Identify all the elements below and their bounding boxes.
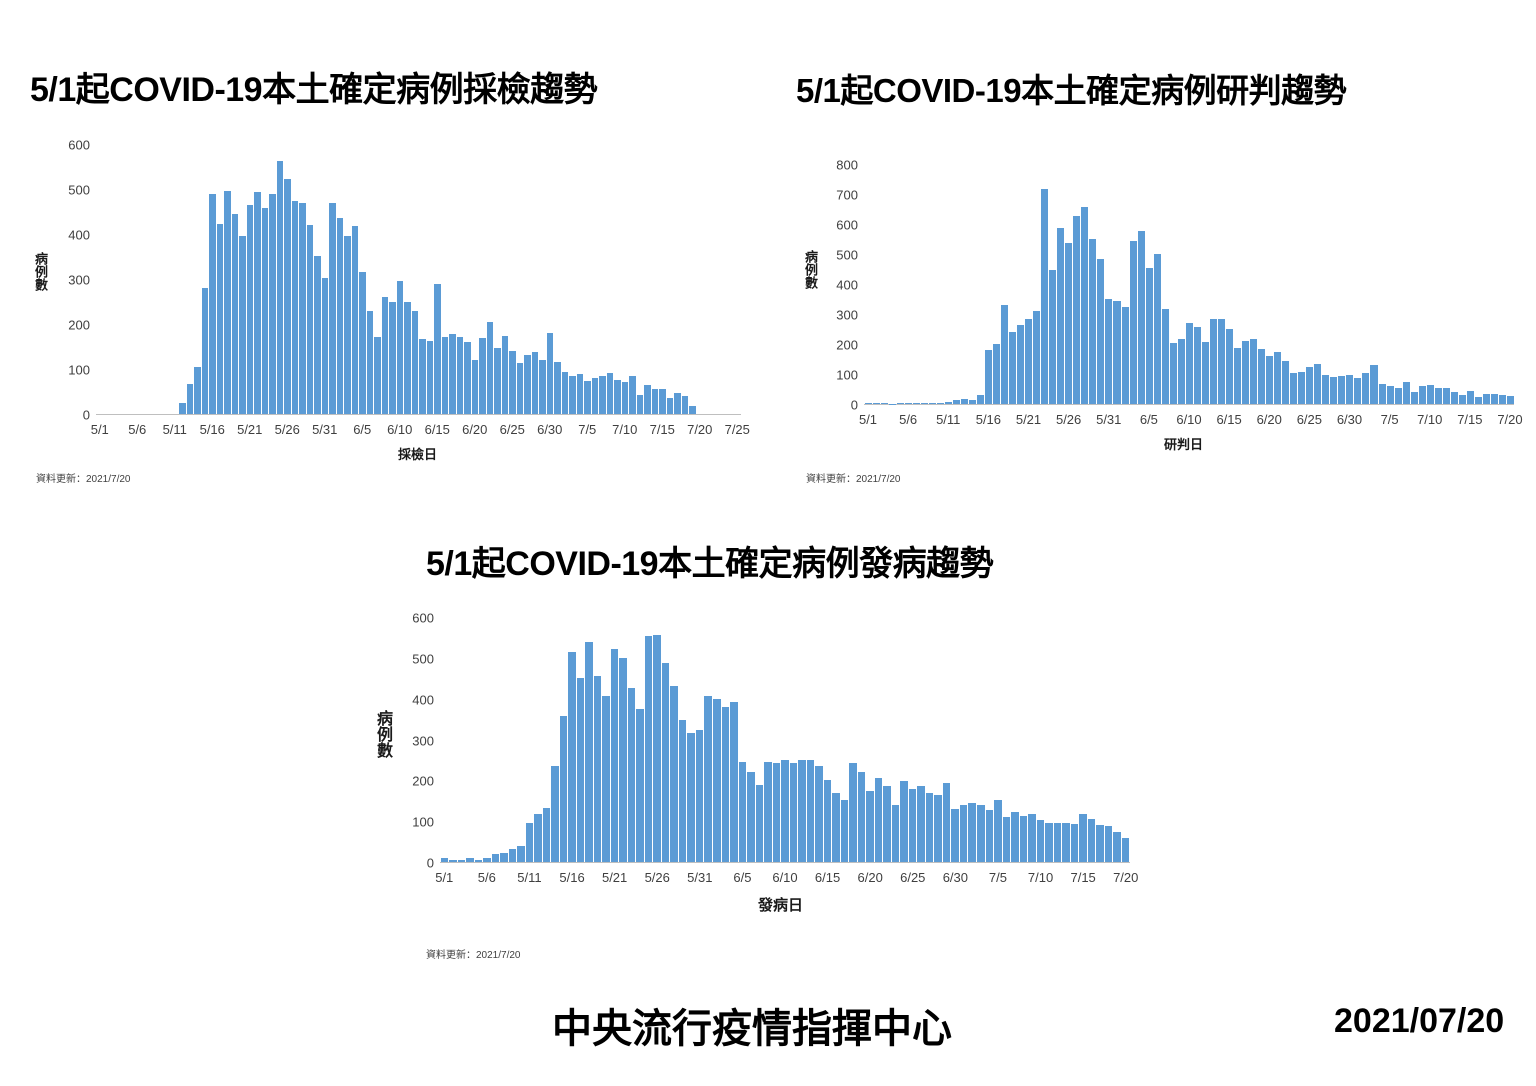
x-axis-tick: 5/1 [859,412,877,427]
x-axis-tick: 5/21 [602,870,627,885]
bar [1234,348,1241,404]
bar [1387,386,1394,404]
bar [458,860,466,862]
x-axis-tick: 5/16 [559,870,584,885]
bar [900,781,908,862]
bar [644,385,651,414]
x-axis-tick: 6/20 [462,422,487,437]
x-axis-tick: 5/31 [1096,412,1121,427]
x-axis-tick: 5/31 [687,870,712,885]
bar [1282,361,1289,404]
x-axis-tick: 5/6 [478,870,496,885]
x-axis-tick: 5/1 [91,422,109,437]
bar [926,793,934,862]
bar [1499,395,1506,404]
bar [1062,823,1070,862]
bar [492,854,500,862]
bar [1427,385,1434,404]
y-axis-tick: 300 [54,273,90,288]
bar [1081,207,1088,404]
bar [209,194,216,414]
bar [798,760,806,862]
bar [532,352,539,414]
bar [1049,270,1056,404]
bar [217,224,224,414]
bar [636,709,644,862]
y-axis-label-confirmation: 病例數 [804,250,817,289]
y-axis-tick: 300 [824,308,858,323]
bar [986,810,994,862]
bar [517,363,524,414]
bar [1298,372,1305,404]
x-axis-tick: 7/5 [578,422,596,437]
x-axis-tick: 6/5 [1140,412,1158,427]
bar [1218,319,1225,404]
bar [1113,301,1120,404]
bar [614,380,621,414]
x-axis-tick: 5/6 [128,422,146,437]
x-axis-tick: 6/30 [943,870,968,885]
bar [509,351,516,414]
bar [815,766,823,862]
bar [764,762,772,862]
y-axis-tick: 200 [54,318,90,333]
bar [865,403,872,404]
bar [179,403,186,414]
y-axis-tick: 100 [54,363,90,378]
y-axis-tick: 600 [394,611,434,626]
bar [739,762,747,862]
bar [307,225,314,414]
bar [269,194,276,414]
bar [629,376,636,414]
bar [1033,311,1040,404]
x-axis-tick: 5/1 [435,870,453,885]
x-axis-label-sampling: 採檢日 [398,444,437,463]
bar [412,311,419,414]
bar [352,226,359,414]
bar [1354,378,1361,404]
bar [849,763,857,862]
bar [1290,373,1297,404]
bar [449,334,456,414]
y-axis-tick: 800 [824,158,858,173]
bar [929,403,936,404]
bar [502,336,509,414]
x-axis-tick: 5/16 [976,412,1001,427]
bar [441,858,449,862]
bar [1379,384,1386,404]
bar [1370,365,1377,404]
bar [824,780,832,862]
bar [599,376,606,414]
bar [1346,375,1353,404]
bar [1443,388,1450,404]
bar [756,785,764,862]
footnote-confirmation: 資料更新：2021/7/20 [806,470,901,485]
x-axis-tick: 6/10 [772,870,797,885]
y-axis-tick: 600 [54,138,90,153]
bar [1146,268,1153,404]
bar [397,281,404,414]
bar [1011,812,1019,862]
bar [679,720,687,862]
bar [841,800,849,862]
x-axis-onset: 5/15/65/115/165/215/265/316/56/106/156/2… [440,868,1130,888]
bar [747,772,755,862]
bar [1322,375,1329,404]
bar [1483,394,1490,404]
bar [607,373,614,414]
bar-series-onset [440,618,1130,862]
footer-date: 2021/07/20 [1334,1002,1504,1041]
bar [1419,386,1426,404]
bar [1411,392,1418,404]
bar [427,341,434,414]
x-axis-tick: 5/21 [237,422,262,437]
x-axis-confirmation: 5/15/65/115/165/215/265/316/56/106/156/2… [864,410,1514,430]
bar [472,360,479,414]
bar [1065,243,1072,404]
bar [1089,239,1096,404]
bar [487,322,494,414]
bar [359,272,366,414]
y-axis-label-onset: 病例數 [374,710,390,758]
bar [653,635,661,862]
x-axis-tick: 6/5 [353,422,371,437]
bar [284,179,291,414]
bar [1266,356,1273,404]
bar [239,236,246,414]
x-axis-tick: 5/21 [1016,412,1041,427]
x-axis-tick: 6/15 [1216,412,1241,427]
x-axis-tick: 6/30 [537,422,562,437]
bar [1138,231,1145,404]
plot-wrap-confirmation: 病例數 0100200300400500600700800 5/15/65/11… [768,0,1536,470]
bar [569,376,576,414]
x-axis-tick: 7/15 [650,422,675,437]
bar [1491,394,1498,404]
bar [881,403,888,404]
bar [1045,823,1053,862]
bar [1258,349,1265,404]
bar [1105,299,1112,404]
bar [875,778,883,862]
bar [202,288,209,414]
bar [562,372,569,414]
bar [483,858,491,862]
bar [943,783,951,862]
y-axis-tick: 100 [394,815,434,830]
bar [187,384,194,414]
bar [659,389,666,414]
bar [873,403,880,404]
bar [1330,377,1337,404]
bar [224,191,231,414]
y-axis-tick: 500 [54,183,90,198]
footer-organization: 中央流行疫情指揮中心 [552,996,952,1054]
bar [611,649,619,862]
bar [951,809,959,862]
bar [594,676,602,862]
y-axis-tick: 600 [824,218,858,233]
bar [883,786,891,862]
bar-series-confirmation [864,165,1514,404]
x-axis-tick: 5/26 [1056,412,1081,427]
bar [909,789,917,862]
bar [934,795,942,862]
bar [299,203,306,414]
bar [329,203,336,414]
bar [247,205,254,414]
bar [1459,395,1466,404]
bar [960,805,968,862]
footnote-onset: 資料更新：2021/7/20 [426,946,521,961]
bar [254,192,261,414]
bar [509,849,517,862]
x-axis-tick: 7/15 [1457,412,1482,427]
bar [434,284,441,414]
bar [1003,817,1011,862]
bar [985,350,992,404]
footnote-sampling: 資料更新：2021/7/20 [36,470,131,485]
bar [1037,820,1045,862]
bar [917,786,925,862]
bar [389,302,396,414]
bar [1274,352,1281,404]
bar [722,707,730,862]
bar [968,803,976,862]
bar [619,658,627,862]
bar [314,256,321,414]
bar [1178,339,1185,404]
chart-panel-confirmation: 5/1起COVID-19本土確定病例研判趨勢 病例數 0100200300400… [768,0,1536,500]
plot-wrap-onset: 病例數 0100200300400500600 5/15/65/115/165/… [330,512,1210,942]
bar [1122,307,1129,404]
x-axis-tick: 6/10 [1176,412,1201,427]
bar [1435,388,1442,404]
bar [645,636,653,862]
bar [466,858,474,862]
bar [1009,332,1016,404]
bar [292,201,299,414]
bar [1001,305,1008,404]
chart-panel-onset: 5/1起COVID-19本土確定病例發病趨勢 病例數 0100200300400… [330,512,1210,982]
bar [1017,325,1024,404]
bar [1362,373,1369,404]
y-axis-tick: 400 [394,692,434,707]
x-axis-tick: 7/20 [1497,412,1522,427]
x-axis-tick: 7/5 [1381,412,1399,427]
bar [194,367,201,414]
y-axis-onset: 0100200300400500600 [394,618,434,863]
bar [687,733,695,862]
x-axis-tick: 7/10 [1028,870,1053,885]
bar [568,652,576,862]
bar [807,760,815,862]
x-axis-tick: 6/25 [500,422,525,437]
y-axis-tick: 500 [394,651,434,666]
y-axis-tick: 400 [824,278,858,293]
x-axis-tick: 5/6 [899,412,917,427]
bar [897,403,904,404]
bar [637,395,644,414]
bar [577,374,584,414]
bar [560,716,568,862]
x-axis-tick: 6/15 [815,870,840,885]
bar [337,218,344,414]
bar [1186,323,1193,404]
bar [479,338,486,414]
bar [628,688,636,862]
bar [781,760,789,862]
bar [696,730,704,862]
bar [1025,319,1032,404]
x-axis-tick: 7/10 [612,422,637,437]
x-axis-tick: 5/16 [200,422,225,437]
x-axis-tick: 6/25 [1297,412,1322,427]
x-axis-tick: 6/10 [387,422,412,437]
bar [442,337,449,414]
bar [1338,376,1345,404]
bar [1097,259,1104,404]
bar [1395,388,1402,404]
bar [1122,838,1130,862]
bar [1041,189,1048,404]
x-axis-label-onset: 發病日 [758,894,803,915]
bar [475,860,483,862]
y-axis-confirmation: 0100200300400500600700800 [824,165,858,405]
bar [689,406,696,414]
bar [464,342,471,414]
bar [543,808,551,862]
bar [584,381,591,414]
y-axis-tick: 200 [394,774,434,789]
x-axis-tick: 5/11 [517,870,541,885]
bar [1073,216,1080,404]
bar [913,403,920,404]
bar [585,642,593,862]
bar [682,396,689,414]
x-axis-tick: 6/20 [858,870,883,885]
x-axis-tick: 7/15 [1070,870,1095,885]
y-axis-sampling: 0100200300400500600 [54,145,90,415]
bar [554,362,561,414]
bar [1170,343,1177,404]
bar [419,339,426,414]
bar [704,696,712,862]
bar [526,823,534,862]
bar [1071,824,1079,862]
y-axis-tick: 100 [824,368,858,383]
bar [622,382,629,414]
plot-wrap-sampling: 病例數 0100200300400500600 5/15/65/115/165/… [0,0,770,470]
x-axis-sampling: 5/15/65/115/165/215/265/316/56/106/156/2… [96,420,741,440]
bar [517,846,525,862]
x-axis-tick: 7/20 [687,422,712,437]
bar [953,400,960,404]
bar [892,805,900,862]
bar [730,702,738,862]
x-axis-label-confirmation: 研判日 [1164,434,1203,453]
bar [977,395,984,404]
bar [670,686,678,862]
bar [551,766,559,862]
bar [374,337,381,414]
bar [1226,329,1233,404]
bar [1475,397,1482,404]
bar [993,344,1000,404]
x-axis-tick: 6/25 [900,870,925,885]
bar [1113,832,1121,863]
bar [961,399,968,404]
y-axis-tick: 700 [824,188,858,203]
bar [539,360,546,414]
y-axis-tick: 0 [824,398,858,413]
plot-area-onset [440,618,1130,863]
bar [1314,364,1321,404]
x-axis-tick: 5/26 [275,422,300,437]
bar [1202,342,1209,404]
bar [494,348,501,414]
y-axis-tick: 300 [394,733,434,748]
bar [457,337,464,414]
bar [1250,339,1257,404]
bar [322,278,329,414]
bar [790,763,798,862]
bar [662,663,670,862]
x-axis-tick: 6/30 [1337,412,1362,427]
x-axis-tick: 5/11 [163,422,187,437]
bar [547,333,554,414]
bar [667,398,674,414]
bar [1242,341,1249,404]
x-axis-tick: 7/10 [1417,412,1442,427]
bar [1507,396,1514,404]
bar [232,214,239,414]
bar [937,403,944,404]
bar [534,814,542,862]
bar [602,696,610,862]
chart-panel-sampling: 5/1起COVID-19本土確定病例採檢趨勢 病例數 0100200300400… [0,0,770,500]
bar [1403,382,1410,404]
bar [858,772,866,862]
x-axis-tick: 5/31 [312,422,337,437]
x-axis-tick: 6/15 [425,422,450,437]
bar-series-sampling [96,145,741,414]
bar [1210,319,1217,404]
bar [1028,814,1036,862]
bar [1096,825,1104,862]
bar [945,402,952,404]
bar [921,403,928,404]
bar [652,389,659,414]
x-axis-tick: 5/11 [936,412,960,427]
y-axis-tick: 0 [54,408,90,423]
bar [592,378,599,414]
bar [969,400,976,404]
bar [449,860,457,862]
bar [1105,826,1113,862]
bar [1154,254,1161,404]
x-axis-tick: 7/5 [989,870,1007,885]
bar [905,403,912,404]
plot-area-confirmation [864,165,1514,405]
y-axis-label-sampling: 病例數 [34,252,47,291]
bar [773,763,781,862]
bar [1162,309,1169,404]
y-axis-tick: 0 [394,856,434,871]
